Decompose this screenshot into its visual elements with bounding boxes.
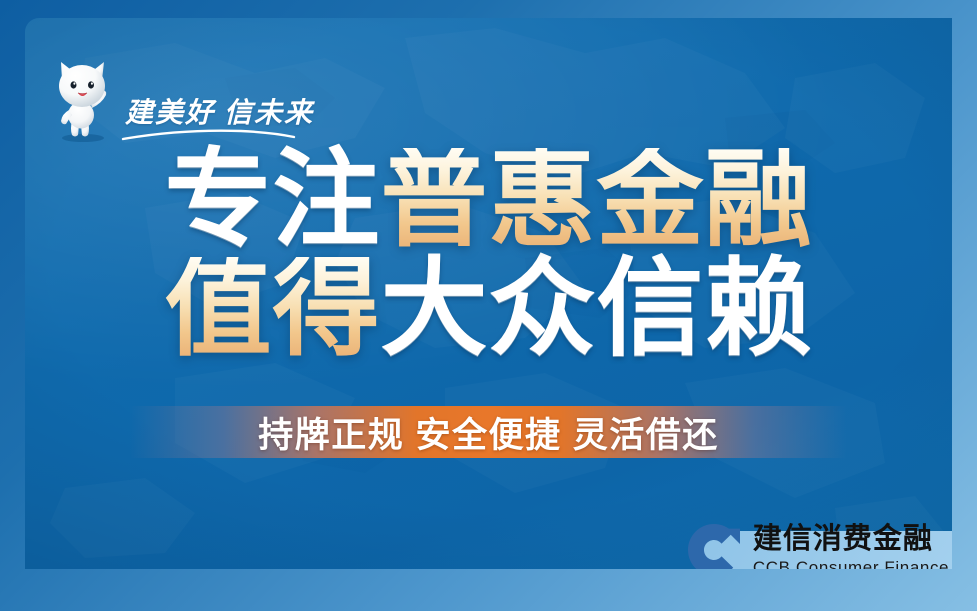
logo-name-en: CCB Consumer Finance	[753, 559, 949, 570]
headline-seg-1-gold: 普惠金融	[381, 148, 813, 251]
ccb-logo-icon	[686, 522, 742, 569]
headline-seg-1-white: 专注	[164, 148, 380, 251]
brand-lockup: 建美好 信未来	[47, 56, 314, 142]
banner-inner-panel: 建美好 信未来 专注普惠金融 值得大众信赖 持牌正规 安全便捷 灵活借还	[25, 18, 952, 569]
subtitle-band: 持牌正规 安全便捷 灵活借还	[130, 406, 847, 458]
brand-slogan: 建美好 信未来	[125, 100, 314, 128]
brand-slogan-text: 建美好 信未来	[125, 100, 314, 128]
logo-panel: 建信消费金融 CCB Consumer Finance	[697, 531, 952, 569]
promotional-banner: 建美好 信未来 专注普惠金融 值得大众信赖 持牌正规 安全便捷 灵活借还	[0, 0, 977, 611]
headline: 专注普惠金融 值得大众信赖	[25, 148, 952, 359]
headline-seg-2-gold: 值得	[164, 257, 380, 360]
logo-name-cn: 建信消费金融	[753, 525, 949, 554]
subtitle-text: 持牌正规 安全便捷 灵活借还	[258, 407, 718, 458]
cat-mascot-icon	[47, 56, 119, 142]
headline-line-1: 专注普惠金融	[25, 148, 952, 251]
headline-line-2: 值得大众信赖	[25, 257, 952, 360]
headline-seg-2-white: 大众信赖	[381, 257, 813, 360]
logo-text-block: 建信消费金融 CCB Consumer Finance	[753, 525, 949, 570]
